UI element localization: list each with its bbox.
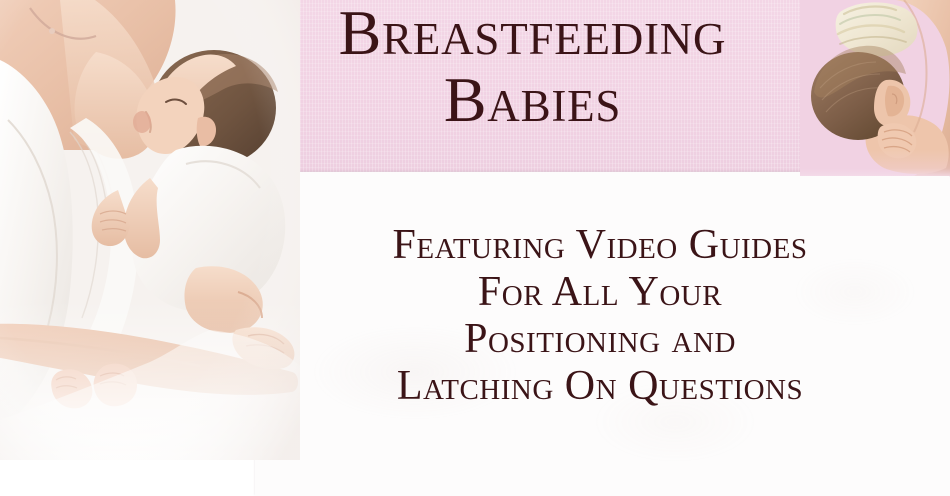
subtitle-line-4: Latching On Questions <box>268 363 932 410</box>
subtitle-line-2: For All Your <box>268 269 932 316</box>
mother-and-baby-photo <box>0 0 300 460</box>
breastfeeding-banner: Breastfeeding Babies Featuring Video Gui… <box>0 0 950 496</box>
subtitle-line-1: Featuring Video Guides <box>268 222 932 269</box>
banner-subtitle: Featuring Video Guides For All Your Posi… <box>268 222 932 410</box>
newborn-closeup-photo <box>800 0 950 176</box>
subtitle-line-3: Positioning and <box>268 316 932 363</box>
